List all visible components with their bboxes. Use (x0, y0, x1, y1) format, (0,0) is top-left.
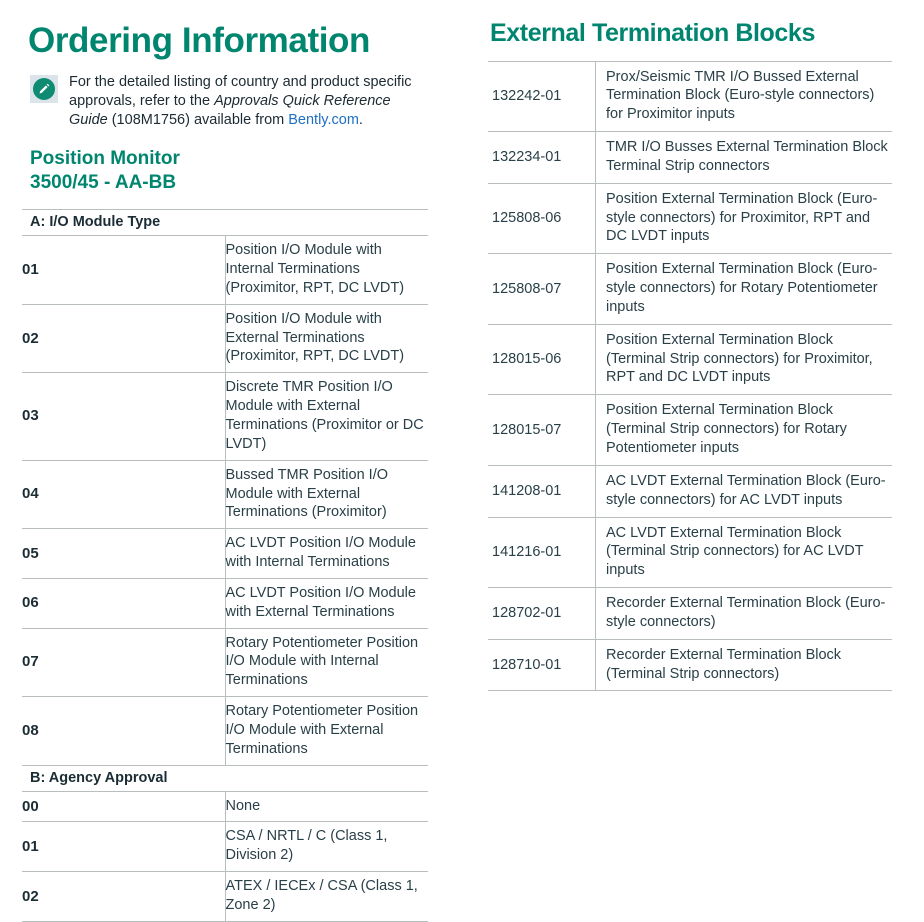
section-header-row: B: Agency Approval (22, 765, 428, 791)
part-number: 125808-07 (488, 254, 596, 325)
termination-blocks-table: 132242-01Prox/Seismic TMR I/O Bussed Ext… (488, 61, 892, 692)
part-number: 141216-01 (488, 517, 596, 588)
table-row: 128015-06Position External Termination B… (488, 324, 892, 395)
table-row: 132242-01Prox/Seismic TMR I/O Bussed Ext… (488, 61, 892, 132)
option-description: Position I/O Module with Internal Termin… (225, 236, 428, 305)
option-code: 05 (22, 529, 225, 579)
part-description: Position External Termination Block (Eur… (596, 183, 893, 254)
bently-com-link[interactable]: Bently.com (288, 112, 359, 128)
table-row: 04Bussed TMR Position I/O Module with Ex… (22, 460, 428, 529)
table-row: 141208-01AC LVDT External Termination Bl… (488, 465, 892, 517)
table-row: 02ATEX / IECEx / CSA (Class 1, Zone 2) (22, 872, 428, 922)
part-description: Position External Termination Block (Ter… (596, 324, 893, 395)
table-row: 07Rotary Potentiometer Position I/O Modu… (22, 628, 428, 697)
part-description: Prox/Seismic TMR I/O Bussed External Ter… (596, 61, 893, 132)
table-row: 05AC LVDT Position I/O Module with Inter… (22, 529, 428, 579)
section-header-label: B: Agency Approval (22, 765, 428, 791)
table-row: 00None (22, 791, 428, 822)
document-page: Ordering Information For the detailed li… (0, 0, 924, 709)
termination-blocks-body: 132242-01Prox/Seismic TMR I/O Bussed Ext… (488, 61, 892, 691)
option-description: AC LVDT Position I/O Module with Interna… (225, 529, 428, 579)
option-code: 02 (22, 304, 225, 373)
ordering-information-column: Ordering Information For the detailed li… (22, 0, 428, 922)
product-title-block: Position Monitor 3500/45 - AA-BB (22, 147, 428, 195)
option-code: 08 (22, 697, 225, 766)
option-description: Position I/O Module with External Termin… (225, 304, 428, 373)
table-row: 125808-07Position External Termination B… (488, 254, 892, 325)
ordering-options-table: A: I/O Module Type01Position I/O Module … (22, 209, 428, 922)
approvals-note-text: For the detailed listing of country and … (69, 73, 428, 131)
table-row: 01Position I/O Module with Internal Term… (22, 236, 428, 305)
part-description: Position External Termination Block (Eur… (596, 254, 893, 325)
table-row: 132234-01TMR I/O Busses External Termina… (488, 132, 892, 184)
option-description: AC LVDT Position I/O Module with Externa… (225, 578, 428, 628)
option-code: 02 (22, 872, 225, 922)
option-description: ATEX / IECEx / CSA (Class 1, Zone 2) (225, 872, 428, 922)
approvals-note: For the detailed listing of country and … (22, 73, 428, 131)
option-description: None (225, 791, 428, 822)
table-row: 08Rotary Potentiometer Position I/O Modu… (22, 697, 428, 766)
option-code: 04 (22, 460, 225, 529)
table-row: 02Position I/O Module with External Term… (22, 304, 428, 373)
part-number: 132242-01 (488, 61, 596, 132)
part-number: 128710-01 (488, 639, 596, 691)
part-number: 128702-01 (488, 588, 596, 640)
table-row: 01CSA / NRTL / C (Class 1, Division 2) (22, 822, 428, 872)
option-description: Bussed TMR Position I/O Module with Exte… (225, 460, 428, 529)
option-code: 03 (22, 373, 225, 460)
option-code: 07 (22, 628, 225, 697)
option-code: 01 (22, 236, 225, 305)
table-row: 128015-07Position External Termination B… (488, 395, 892, 466)
part-number: 125808-06 (488, 183, 596, 254)
option-description: CSA / NRTL / C (Class 1, Division 2) (225, 822, 428, 872)
table-row: 128710-01Recorder External Termination B… (488, 639, 892, 691)
option-code: 00 (22, 791, 225, 822)
table-row: 128702-01Recorder External Termination B… (488, 588, 892, 640)
pencil-note-icon (30, 75, 58, 103)
ordering-options-body: A: I/O Module Type01Position I/O Module … (22, 210, 428, 922)
table-row: 06AC LVDT Position I/O Module with Exter… (22, 578, 428, 628)
option-description: Discrete TMR Position I/O Module with Ex… (225, 373, 428, 460)
option-code: 06 (22, 578, 225, 628)
table-row: 03Discrete TMR Position I/O Module with … (22, 373, 428, 460)
note-text-part3: . (359, 112, 363, 128)
part-description: AC LVDT External Termination Block (Term… (596, 517, 893, 588)
part-description: Recorder External Termination Block (Eur… (596, 588, 893, 640)
page-title: Ordering Information (22, 0, 428, 61)
part-description: AC LVDT External Termination Block (Euro… (596, 465, 893, 517)
product-model: 3500/45 - AA-BB (30, 171, 428, 195)
product-name: Position Monitor (30, 147, 428, 171)
option-description: Rotary Potentiometer Position I/O Module… (225, 628, 428, 697)
option-description: Rotary Potentiometer Position I/O Module… (225, 697, 428, 766)
section-title-etb: External Termination Blocks (488, 0, 892, 48)
part-number: 132234-01 (488, 132, 596, 184)
part-number: 128015-07 (488, 395, 596, 466)
note-text-part2: (108M1756) available from (108, 112, 289, 128)
option-code: 01 (22, 822, 225, 872)
section-header-label: A: I/O Module Type (22, 210, 428, 236)
section-header-row: A: I/O Module Type (22, 210, 428, 236)
part-description: TMR I/O Busses External Termination Bloc… (596, 132, 893, 184)
part-description: Recorder External Termination Block (Ter… (596, 639, 893, 691)
table-row: 141216-01AC LVDT External Termination Bl… (488, 517, 892, 588)
external-termination-blocks-column: External Termination Blocks 132242-01Pro… (488, 0, 892, 691)
table-row: 125808-06Position External Termination B… (488, 183, 892, 254)
part-description: Position External Termination Block (Ter… (596, 395, 893, 466)
part-number: 141208-01 (488, 465, 596, 517)
part-number: 128015-06 (488, 324, 596, 395)
